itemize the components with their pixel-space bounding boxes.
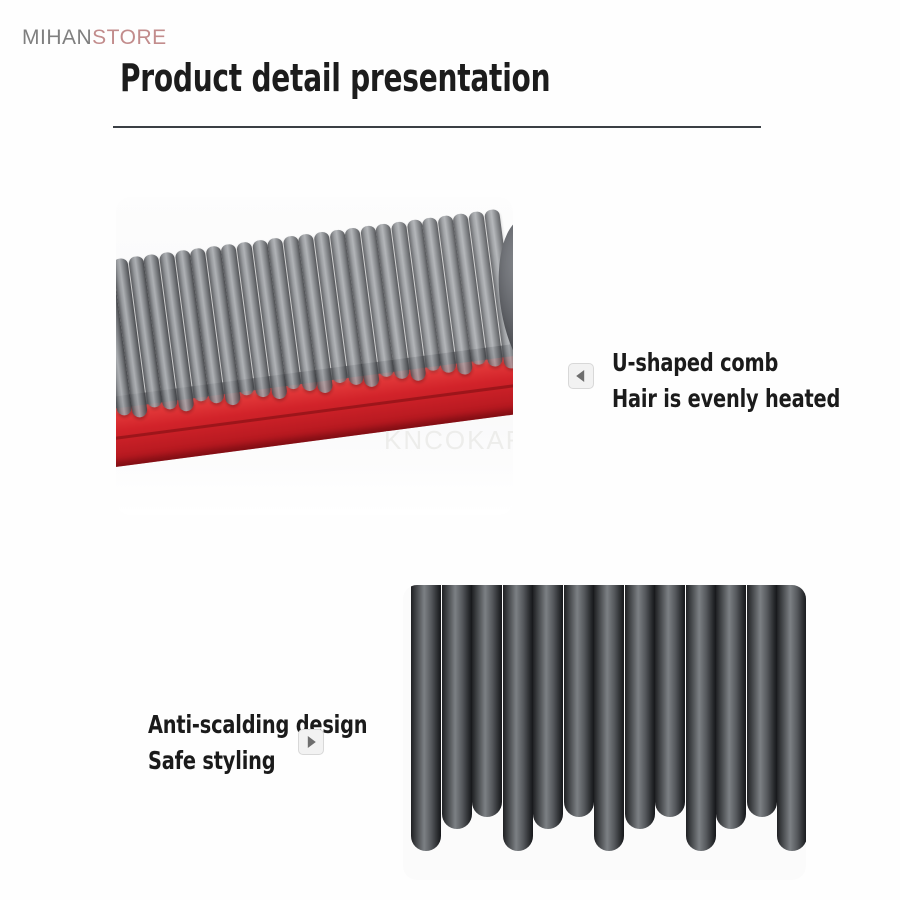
product-photo-u-shaped-comb: KNCOKAR (116, 197, 513, 515)
photo-scene-bottom (403, 585, 806, 880)
comb-tooth (533, 585, 563, 829)
triangle-right-icon[interactable] (298, 729, 324, 755)
product-photo-comb-teeth-macro (403, 585, 806, 880)
comb-tooth (503, 585, 533, 851)
product-detail-page: MIHANSTORE Product detail presentation K… (0, 0, 900, 900)
callout-line-secondary: Safe styling (148, 743, 367, 779)
callout-line-primary: U-shaped comb (612, 345, 840, 381)
comb-tooth (564, 585, 594, 817)
callout-line-secondary: Hair is evenly heated (612, 381, 840, 417)
comb-tooth (472, 585, 502, 817)
comb-tooth (777, 585, 806, 851)
comb-tooth (686, 585, 716, 851)
page-title: Product detail presentation (120, 56, 550, 100)
brand-logo-primary: MIHAN (22, 26, 92, 49)
comb-tooth (716, 585, 746, 829)
comb-tooth (594, 585, 624, 851)
brand-logo-secondary: STORE (92, 26, 166, 49)
comb-tooth (747, 585, 777, 817)
comb-tooth (655, 585, 685, 817)
straightener-brush-illustration (116, 197, 513, 498)
triangle-left-icon[interactable] (568, 363, 594, 389)
photo-scene-top: KNCOKAR (116, 197, 513, 515)
callout-anti-scalding: Anti-scalding design Safe styling (148, 707, 403, 779)
callout-u-shaped-comb: U-shaped comb Hair is evenly heated (612, 345, 877, 417)
comb-tooth (625, 585, 655, 829)
comb-tooth (411, 585, 441, 851)
title-divider (113, 126, 761, 128)
comb-tooth (442, 585, 472, 829)
brand-logo: MIHANSTORE (22, 26, 167, 50)
callout-line-primary: Anti-scalding design (148, 707, 367, 743)
comb-teeth-macro (403, 585, 806, 880)
